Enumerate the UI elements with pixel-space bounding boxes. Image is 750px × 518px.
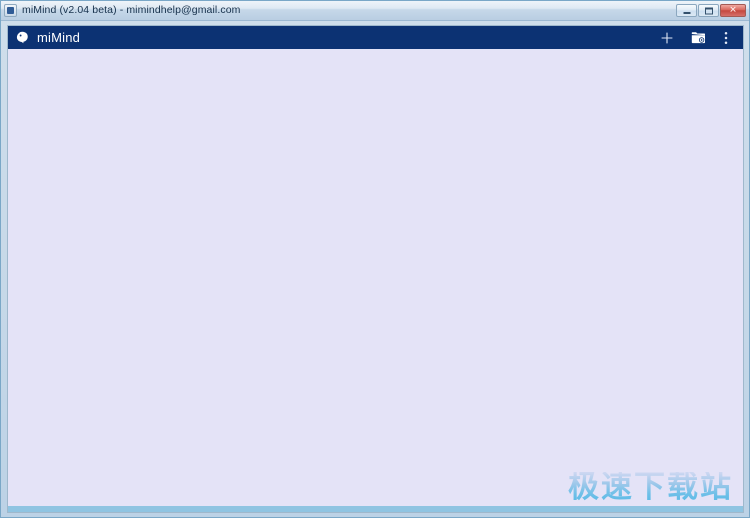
app-title: miMind xyxy=(37,31,653,44)
folder-open-icon xyxy=(691,31,706,45)
window-client-area: miMind xyxy=(1,21,749,517)
site-watermark: 极速下载站 xyxy=(568,472,733,503)
application-window: miMind (v2.04 beta) - mimindhelp@gmail.c… xyxy=(0,0,750,518)
maximize-button[interactable] xyxy=(698,4,719,17)
overflow-menu-button[interactable] xyxy=(716,26,736,49)
add-map-button[interactable] xyxy=(653,26,681,49)
window-controls: ✕ xyxy=(676,4,747,17)
minimize-button[interactable] xyxy=(676,4,697,17)
plus-icon xyxy=(660,31,674,45)
open-folder-button[interactable] xyxy=(685,26,711,49)
os-title-bar[interactable]: miMind (v2.04 beta) - mimindhelp@gmail.c… xyxy=(1,1,749,21)
canvas-bottom-band xyxy=(8,506,743,512)
mindmap-canvas[interactable]: 极速下载站 xyxy=(8,49,743,512)
close-icon: ✕ xyxy=(729,6,737,15)
app-top-bar: miMind xyxy=(8,26,743,49)
maximize-icon xyxy=(705,7,713,14)
minimize-icon xyxy=(683,12,690,14)
close-button[interactable]: ✕ xyxy=(720,4,746,17)
more-vertical-icon xyxy=(724,31,728,45)
app-bar-actions xyxy=(653,26,736,49)
mimind-logo-icon xyxy=(16,31,29,44)
window-app-icon xyxy=(4,4,17,17)
mimind-app: miMind xyxy=(7,25,744,513)
window-title: miMind (v2.04 beta) - mimindhelp@gmail.c… xyxy=(22,5,676,16)
